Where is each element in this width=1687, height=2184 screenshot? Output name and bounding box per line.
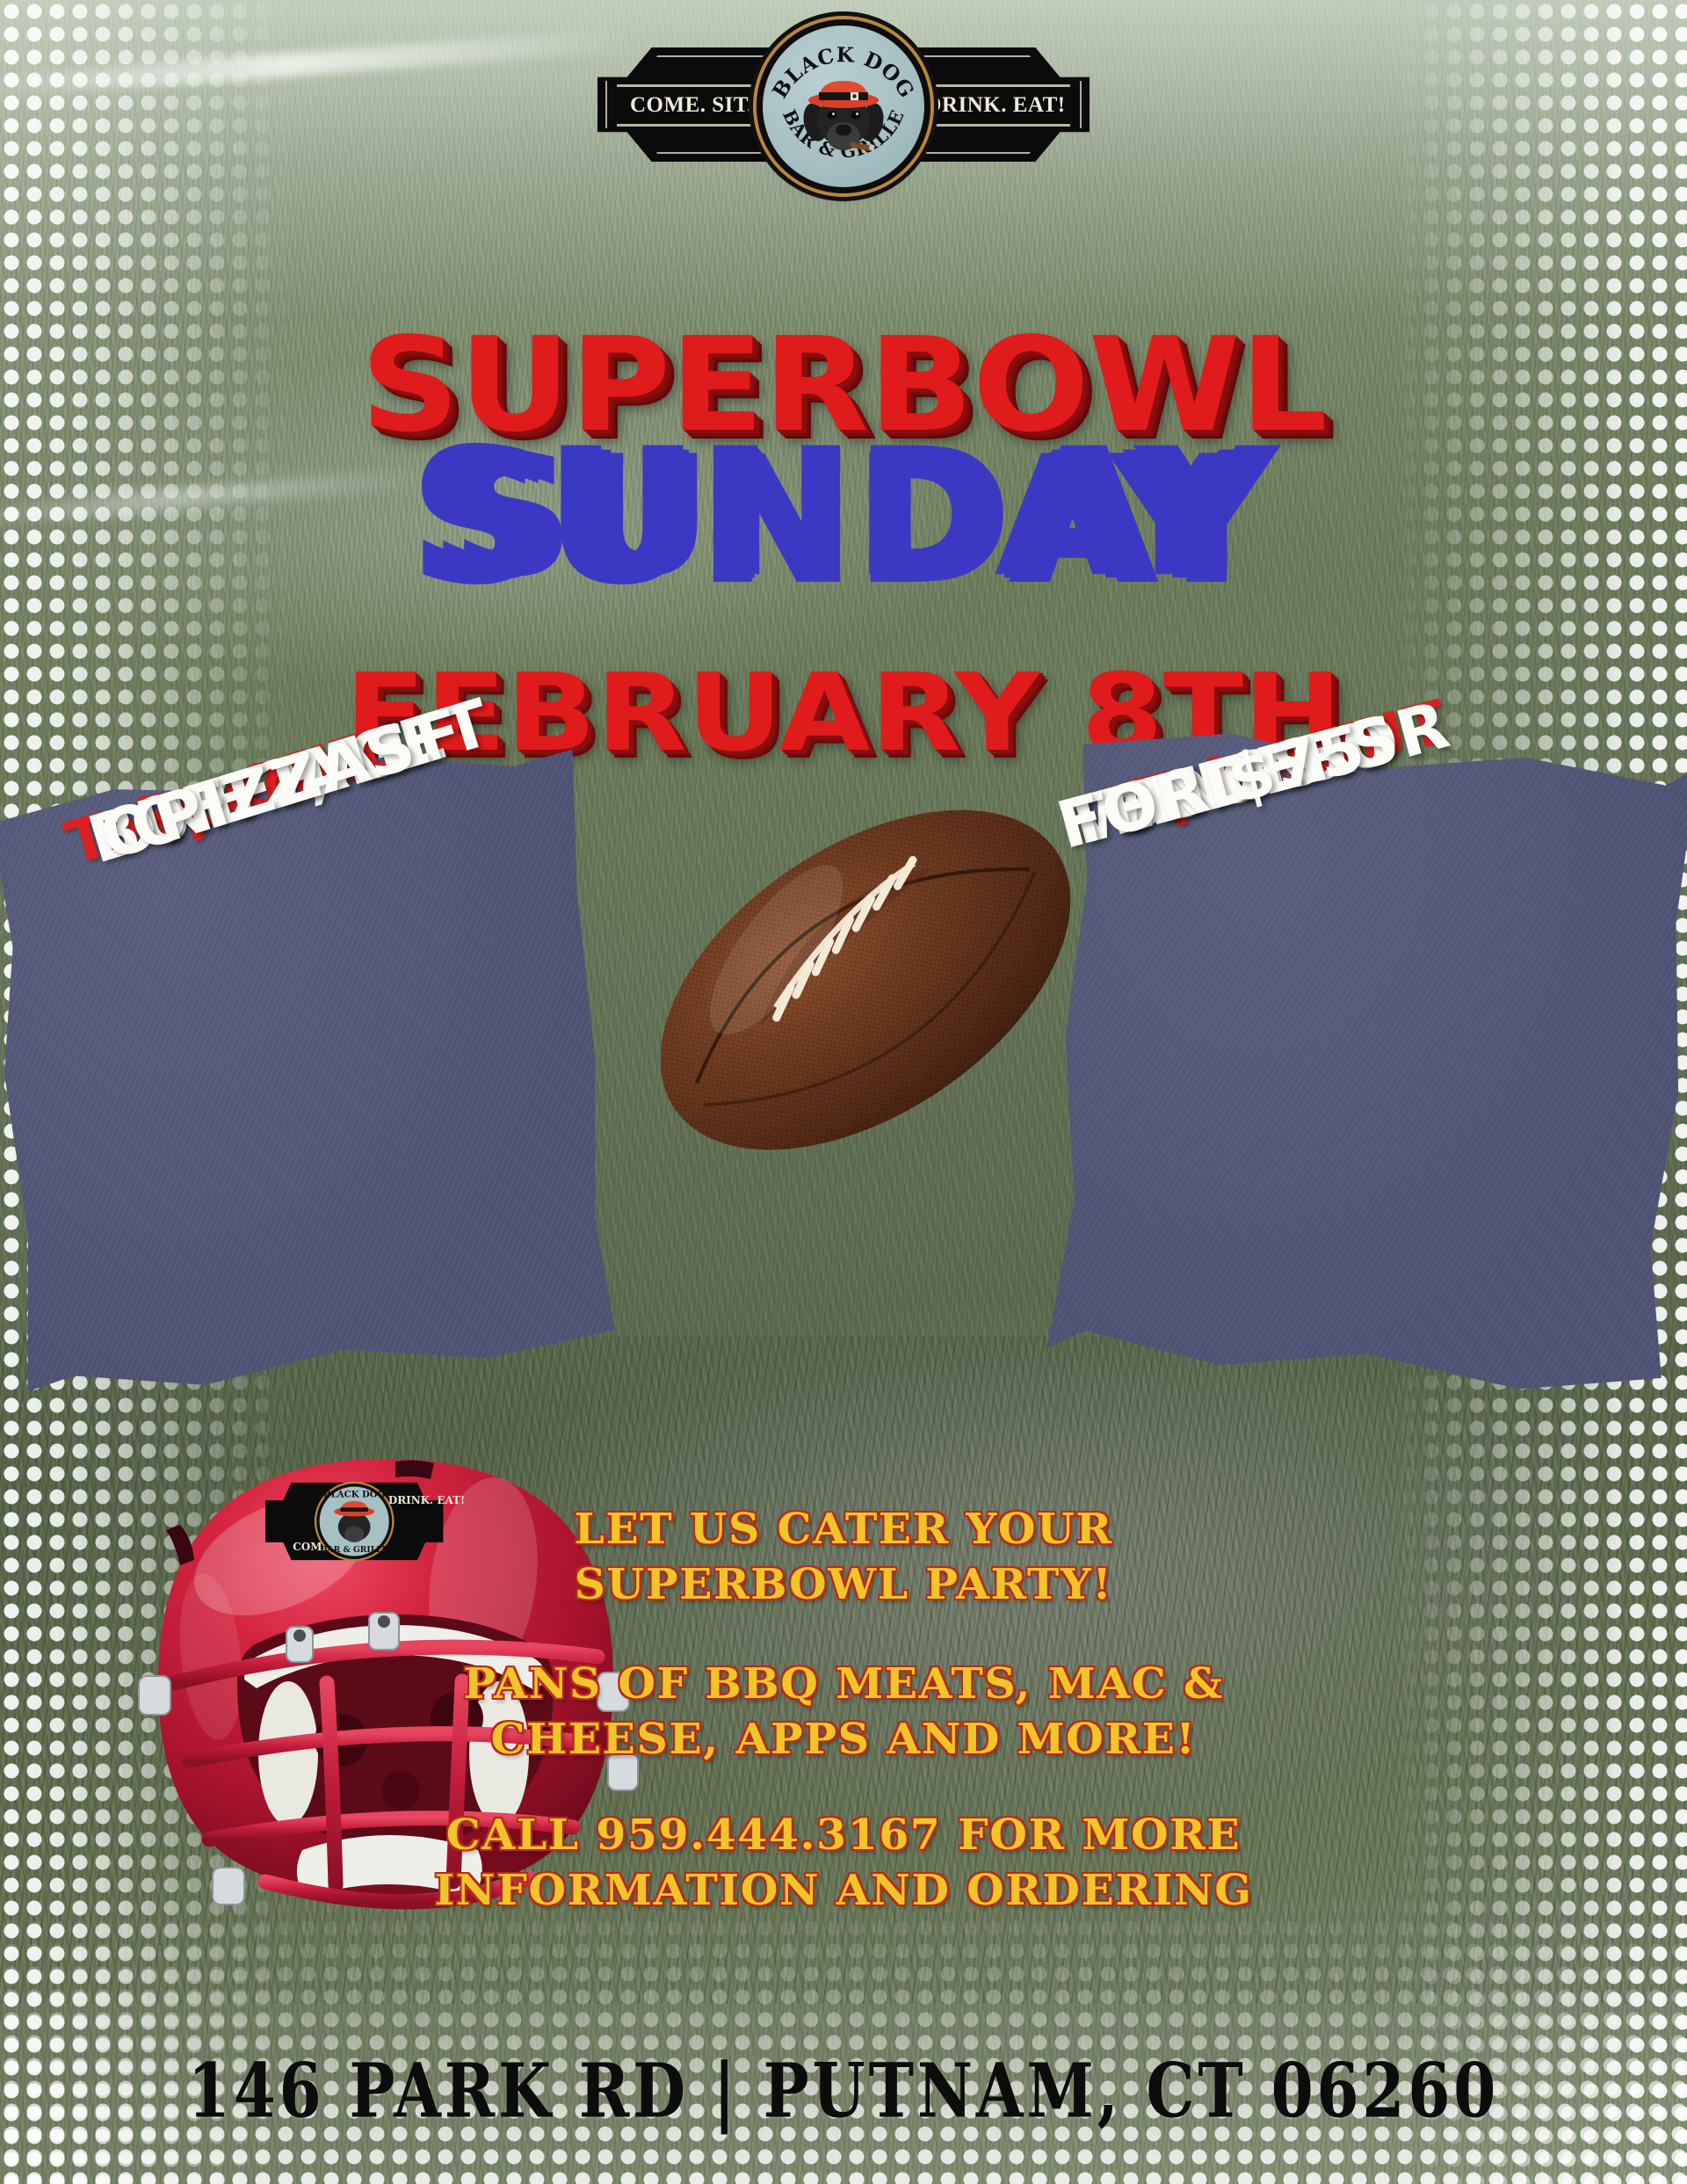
svg-text:BLACK DOG: BLACK DOG [323,1489,385,1499]
tagline-right: DRINK. EAT! [921,84,1070,127]
catering-line-1: LET US CATER YOUR [0,1505,1687,1554]
black-dog-in-red-hat-icon [796,71,891,159]
catering-line-3: PANS OF BBQ MEATS, MAC & [0,1659,1687,1709]
catering-line-2: SUPERBOWL PARTY! [0,1560,1687,1609]
catering-line-4: CHEESE, APPS AND MORE! [0,1715,1687,1764]
catering-line-6: INFORMATION AND ORDERING [0,1866,1687,1915]
logo-badge-circle: BLACK DOG BAR & GRILLE [757,19,930,193]
footer-address: 146 PARK RD | PUTNAM, CT 06260 [33,2046,1653,2134]
headline-sunday-outline-ring: SUNDAY [57,423,1630,612]
tagline-left: COME. SIT. [617,84,766,127]
catering-phone-line[interactable]: CALL 959.444.3167 FOR MORE [0,1810,1687,1860]
headline-sunday: SUNDAY SUNDAYSUNDAY [0,413,1687,622]
flyer-canvas: COME. SIT. DRINK. EAT! BLACK DOG BAR & G… [0,0,1687,2184]
brand-logo: COME. SIT. DRINK. EAT! BLACK DOG BAR & G… [597,19,1090,195]
